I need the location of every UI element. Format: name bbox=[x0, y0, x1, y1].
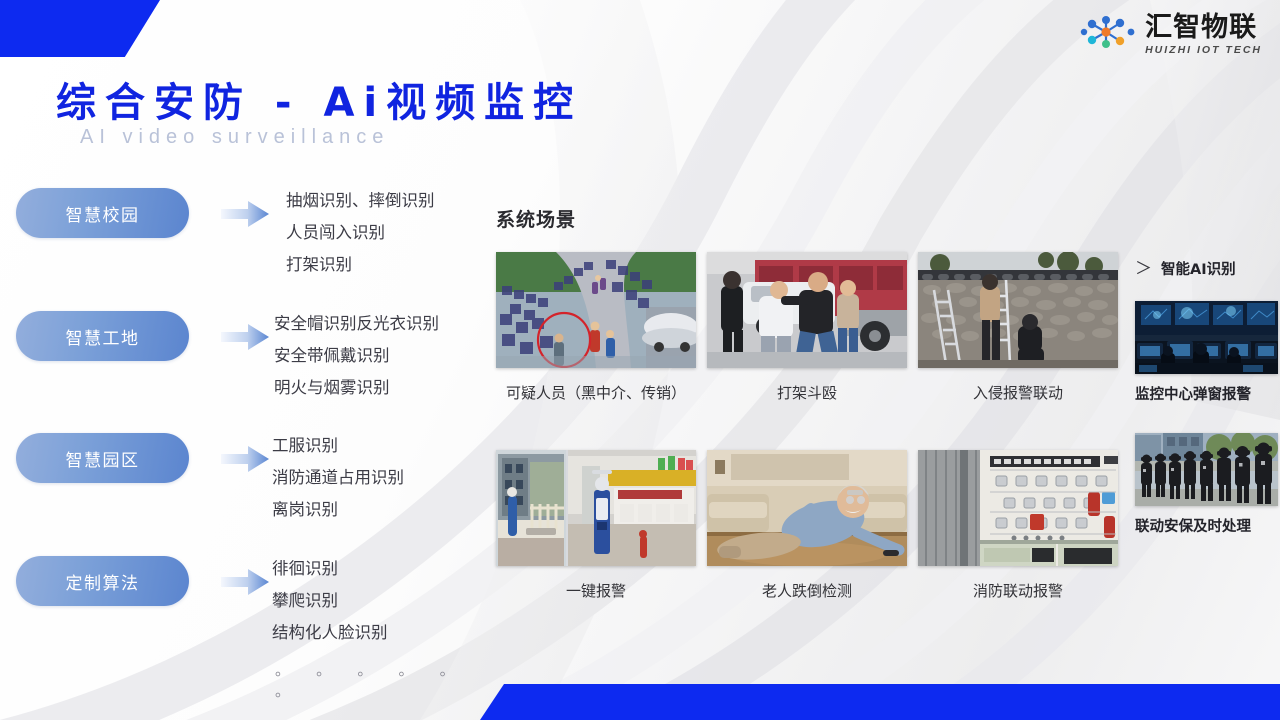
arrow-right-icon bbox=[221, 446, 269, 472]
capability-items: 安全帽识别反光衣识别 安全带佩戴识别 明火与烟雾识别 bbox=[274, 308, 439, 404]
control-room-popup-alarm-photo bbox=[1135, 301, 1278, 374]
capability-item: 攀爬识别 bbox=[272, 585, 476, 617]
scene-caption: 入侵报警联动 bbox=[918, 382, 1118, 403]
scene-caption: 打架斗殴 bbox=[707, 382, 907, 403]
security-guards-lineup-photo bbox=[1135, 433, 1278, 506]
category-pill-custom-algorithm[interactable]: 定制算法 bbox=[16, 556, 189, 606]
scene-caption: 一键报警 bbox=[496, 580, 696, 601]
molecule-node-icon bbox=[1080, 12, 1138, 57]
scene-caption: 老人跌倒检测 bbox=[707, 580, 907, 601]
ai-label-text: 智能AI识别 bbox=[1161, 258, 1236, 279]
brand-name-en: HUIZHI IOT TECH bbox=[1145, 45, 1262, 56]
result-card-security-response[interactable]: 联动安保及时处理 bbox=[1135, 433, 1280, 536]
capability-item: 抽烟识别、摔倒识别 bbox=[286, 185, 435, 217]
result-caption: 联动安保及时处理 bbox=[1135, 515, 1280, 536]
capability-item: 打架识别 bbox=[286, 249, 435, 281]
scene-card-intrusion[interactable]: 入侵报警联动 bbox=[918, 252, 1118, 403]
category-label: 智慧校园 bbox=[66, 201, 140, 226]
page-title: 综合安防 - Ai视频监控 bbox=[56, 70, 582, 128]
capability-item: 结构化人脸识别 bbox=[272, 617, 476, 649]
capability-item: 离岗识别 bbox=[272, 494, 404, 526]
capability-items: 抽烟识别、摔倒识别 人员闯入识别 打架识别 bbox=[286, 185, 435, 281]
category-label: 智慧园区 bbox=[66, 446, 140, 471]
page-subtitle: AI video surveillance bbox=[80, 126, 389, 149]
chevron-right-icon: ＞ bbox=[1135, 260, 1152, 277]
elderly-fall-photo bbox=[707, 450, 907, 566]
wall-ladder-intrusion-photo bbox=[918, 252, 1118, 368]
scene-card-fire-alarm[interactable]: 消防联动报警 bbox=[918, 450, 1118, 601]
scene-grid: 可疑人员（黑中介、传销） bbox=[496, 252, 1136, 601]
scene-row-1: 可疑人员（黑中介、传销） bbox=[496, 252, 1136, 403]
category-pill-smart-construction[interactable]: 智慧工地 bbox=[16, 311, 189, 361]
scene-card-suspicious-person[interactable]: 可疑人员（黑中介、传销） bbox=[496, 252, 696, 403]
ai-results-column: ＞ 智能AI识别 bbox=[1135, 258, 1280, 536]
capability-item: 安全带佩戴识别 bbox=[274, 340, 439, 372]
result-caption: 监控中心弹窗报警 bbox=[1135, 383, 1280, 404]
capability-item: 安全帽识别反光衣识别 bbox=[274, 308, 439, 340]
capability-item: 消防通道占用识别 bbox=[272, 462, 404, 494]
section-title: 系统场景 bbox=[496, 205, 576, 232]
category-pill-smart-campus[interactable]: 智慧校园 bbox=[16, 188, 189, 238]
scenes-panel: 系统场景 bbox=[480, 0, 1280, 720]
street-fight-photo bbox=[707, 252, 907, 368]
arrow-right-icon bbox=[221, 569, 269, 595]
ellipsis-dots: 。 。 。 。 。 。 bbox=[272, 659, 476, 701]
arrow-right-icon bbox=[221, 201, 269, 227]
category-label: 定制算法 bbox=[66, 569, 140, 594]
scene-caption: 消防联动报警 bbox=[918, 580, 1118, 601]
capability-item: 明火与烟雾识别 bbox=[274, 372, 439, 404]
capability-item: 徘徊识别 bbox=[272, 553, 476, 585]
arrow-right-icon bbox=[221, 324, 269, 350]
capability-item: 人员闯入识别 bbox=[286, 217, 435, 249]
scene-card-elderly-fall[interactable]: 老人跌倒检测 bbox=[707, 450, 907, 601]
scene-card-one-key-alarm[interactable]: 一键报警 bbox=[496, 450, 696, 601]
capability-items: 徘徊识别 攀爬识别 结构化人脸识别 。 。 。 。 。 。 bbox=[272, 553, 476, 701]
brand-name-cn: 汇智物联 bbox=[1145, 14, 1262, 41]
street-crowd-scooters-photo bbox=[496, 252, 696, 368]
scene-caption: 可疑人员（黑中介、传销） bbox=[496, 382, 696, 403]
fire-control-panel-photo bbox=[918, 450, 1118, 566]
capability-items: 工服识别 消防通道占用识别 离岗识别 bbox=[272, 430, 404, 526]
scene-card-fight[interactable]: 打架斗殴 bbox=[707, 252, 907, 403]
category-label: 智慧工地 bbox=[66, 324, 140, 349]
result-card-control-room[interactable]: 监控中心弹窗报警 bbox=[1135, 301, 1280, 404]
ai-recognition-label: ＞ 智能AI识别 bbox=[1135, 258, 1280, 279]
category-pill-smart-park[interactable]: 智慧园区 bbox=[16, 433, 189, 483]
scene-row-2: 一键报警 bbox=[496, 450, 1136, 601]
brand-logo: 汇智物联 HUIZHI IOT TECH bbox=[1080, 12, 1262, 57]
emergency-call-pillar-photo bbox=[496, 450, 696, 566]
capability-item: 工服识别 bbox=[272, 430, 404, 462]
